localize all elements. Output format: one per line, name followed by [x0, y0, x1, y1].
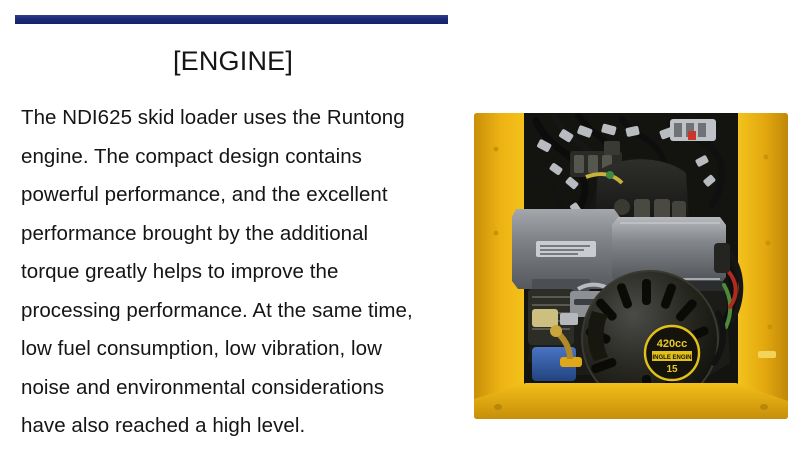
chassis-bottom-rail	[474, 383, 788, 419]
page-title: [ENGINE]	[0, 46, 466, 77]
page-root: [ENGINE] The NDI625 skid loader uses the…	[0, 0, 800, 449]
body-line: processing performance. At the same time…	[21, 292, 463, 331]
body-line: engine. The compact design contains	[21, 138, 463, 177]
body-line: powerful performance, and the excellent	[21, 176, 463, 215]
decal-brand: SINGLE ENGINE	[648, 355, 695, 361]
body-line: have also reached a high level.	[21, 407, 463, 446]
body-paragraph: The NDI625 skid loader uses the Runtong …	[21, 99, 463, 446]
shroud-block	[634, 199, 650, 219]
body-paragraph-text: The NDI625 skid loader uses the Runtong …	[21, 99, 463, 446]
shroud-block	[654, 199, 670, 219]
shroud-block	[672, 201, 686, 219]
electrical-connector-block	[670, 119, 716, 141]
chassis-decal-strip	[758, 351, 776, 358]
relay-box	[714, 243, 730, 273]
body-line: noise and environmental considerations	[21, 369, 463, 408]
top-accent-bar	[15, 15, 448, 24]
body-line: performance brought by the additional	[21, 215, 463, 254]
green-fitting	[606, 171, 614, 179]
body-line: The NDI625 skid loader uses the Runtong	[21, 99, 463, 138]
engine-photo-illustration: 420cc SINGLE ENGINE 15	[474, 113, 788, 419]
engine-photo: 420cc SINGLE ENGINE 15	[474, 113, 788, 419]
body-line: low fuel consumption, low vibration, low	[21, 330, 463, 369]
engine-decal: 420cc SINGLE ENGINE 15	[645, 326, 699, 380]
decal-number: 15	[666, 364, 678, 375]
body-line: torque greatly helps to improve the	[21, 253, 463, 292]
decal-displacement: 420cc	[657, 338, 688, 350]
